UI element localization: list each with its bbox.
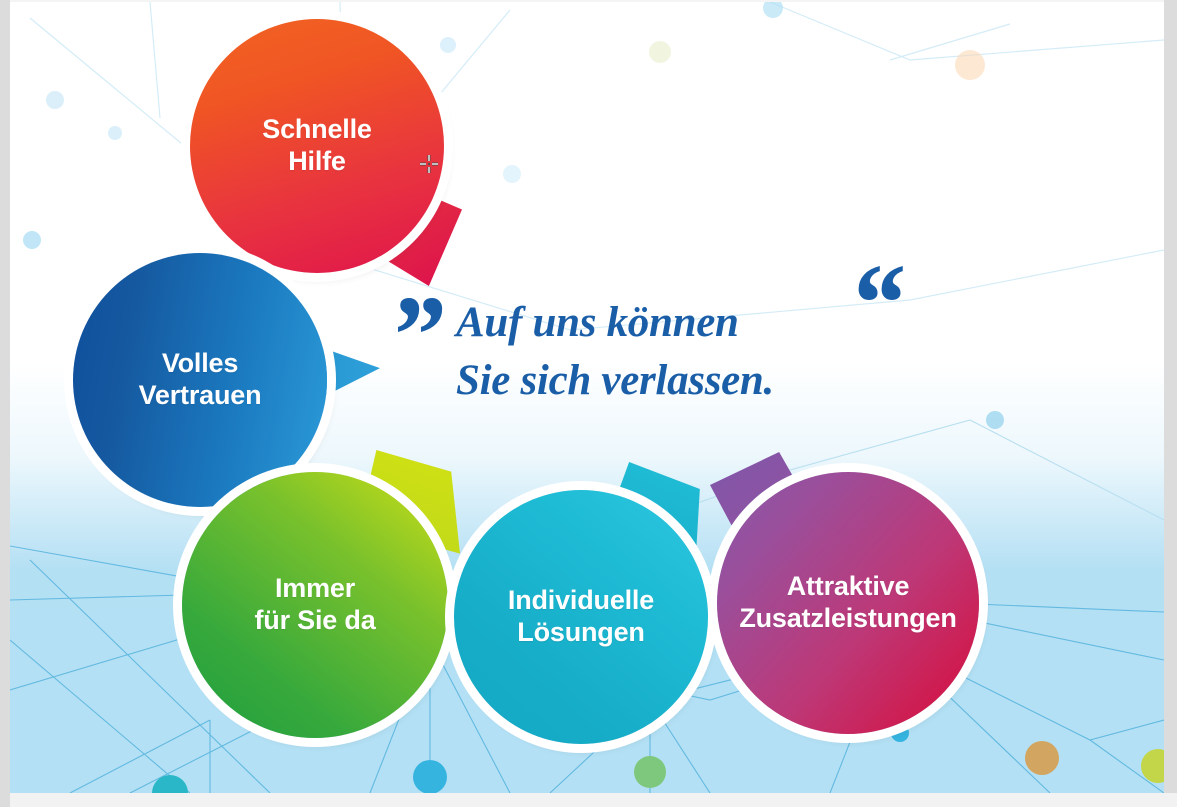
frame-bottom-left-corner — [0, 793, 10, 807]
quote-mark-close-icon: “ — [848, 248, 904, 360]
bubble-line-1: Individuelle — [508, 585, 654, 615]
bubble-line-2: Vertrauen — [139, 380, 262, 410]
bubble-label-attraktive-zusatzleistungen: Attraktive Zusatzleistungen — [733, 571, 962, 635]
bubble-line-1: Schnelle — [262, 114, 371, 144]
bubble-line-1: Immer — [275, 573, 355, 603]
bubble-immer-fuer-sie-da[interactable]: Immer für Sie da — [182, 472, 448, 738]
bubble-label-individuelle-loesungen: Individuelle Lösungen — [502, 585, 660, 649]
bubble-line-2: Zusatzleistungen — [739, 603, 956, 633]
bubble-schnelle-hilfe[interactable]: Schnelle Hilfe — [190, 19, 444, 273]
headline-quote: ” Auf uns können Sie sich verlassen. “ — [388, 294, 928, 414]
frame-top-edge — [10, 0, 1164, 2]
bubble-line-1: Volles — [162, 348, 238, 378]
quote-text: Auf uns können Sie sich verlassen. — [456, 294, 856, 409]
slide-artwork: Schnelle Hilfe Volles Vertrauen Immer fü… — [10, 0, 1164, 793]
bubble-attraktive-zusatzleistungen[interactable]: Attraktive Zusatzleistungen — [717, 472, 979, 734]
quote-line-2: Sie sich verlassen. — [456, 352, 856, 410]
bubble-individuelle-loesungen[interactable]: Individuelle Lösungen — [454, 490, 708, 744]
frame-right-edge — [1164, 0, 1177, 807]
bubble-volles-vertrauen[interactable]: Volles Vertrauen — [73, 253, 327, 507]
frame-left-edge — [0, 0, 10, 807]
bubble-line-2: Lösungen — [517, 617, 644, 647]
bubble-label-volles-vertrauen: Volles Vertrauen — [133, 348, 268, 412]
bubble-label-schnelle-hilfe: Schnelle Hilfe — [256, 114, 377, 178]
quote-line-1: Auf uns können — [456, 294, 856, 352]
quote-mark-open-icon: ” — [388, 280, 444, 392]
bubble-label-immer-fuer-sie-da: Immer für Sie da — [248, 573, 381, 637]
bubble-line-1: Attraktive — [787, 571, 910, 601]
slide-canvas: Schnelle Hilfe Volles Vertrauen Immer fü… — [0, 0, 1177, 807]
bubble-line-2: für Sie da — [254, 605, 375, 635]
frame-bottom-edge — [0, 793, 1177, 807]
bubble-line-2: Hilfe — [288, 146, 346, 176]
